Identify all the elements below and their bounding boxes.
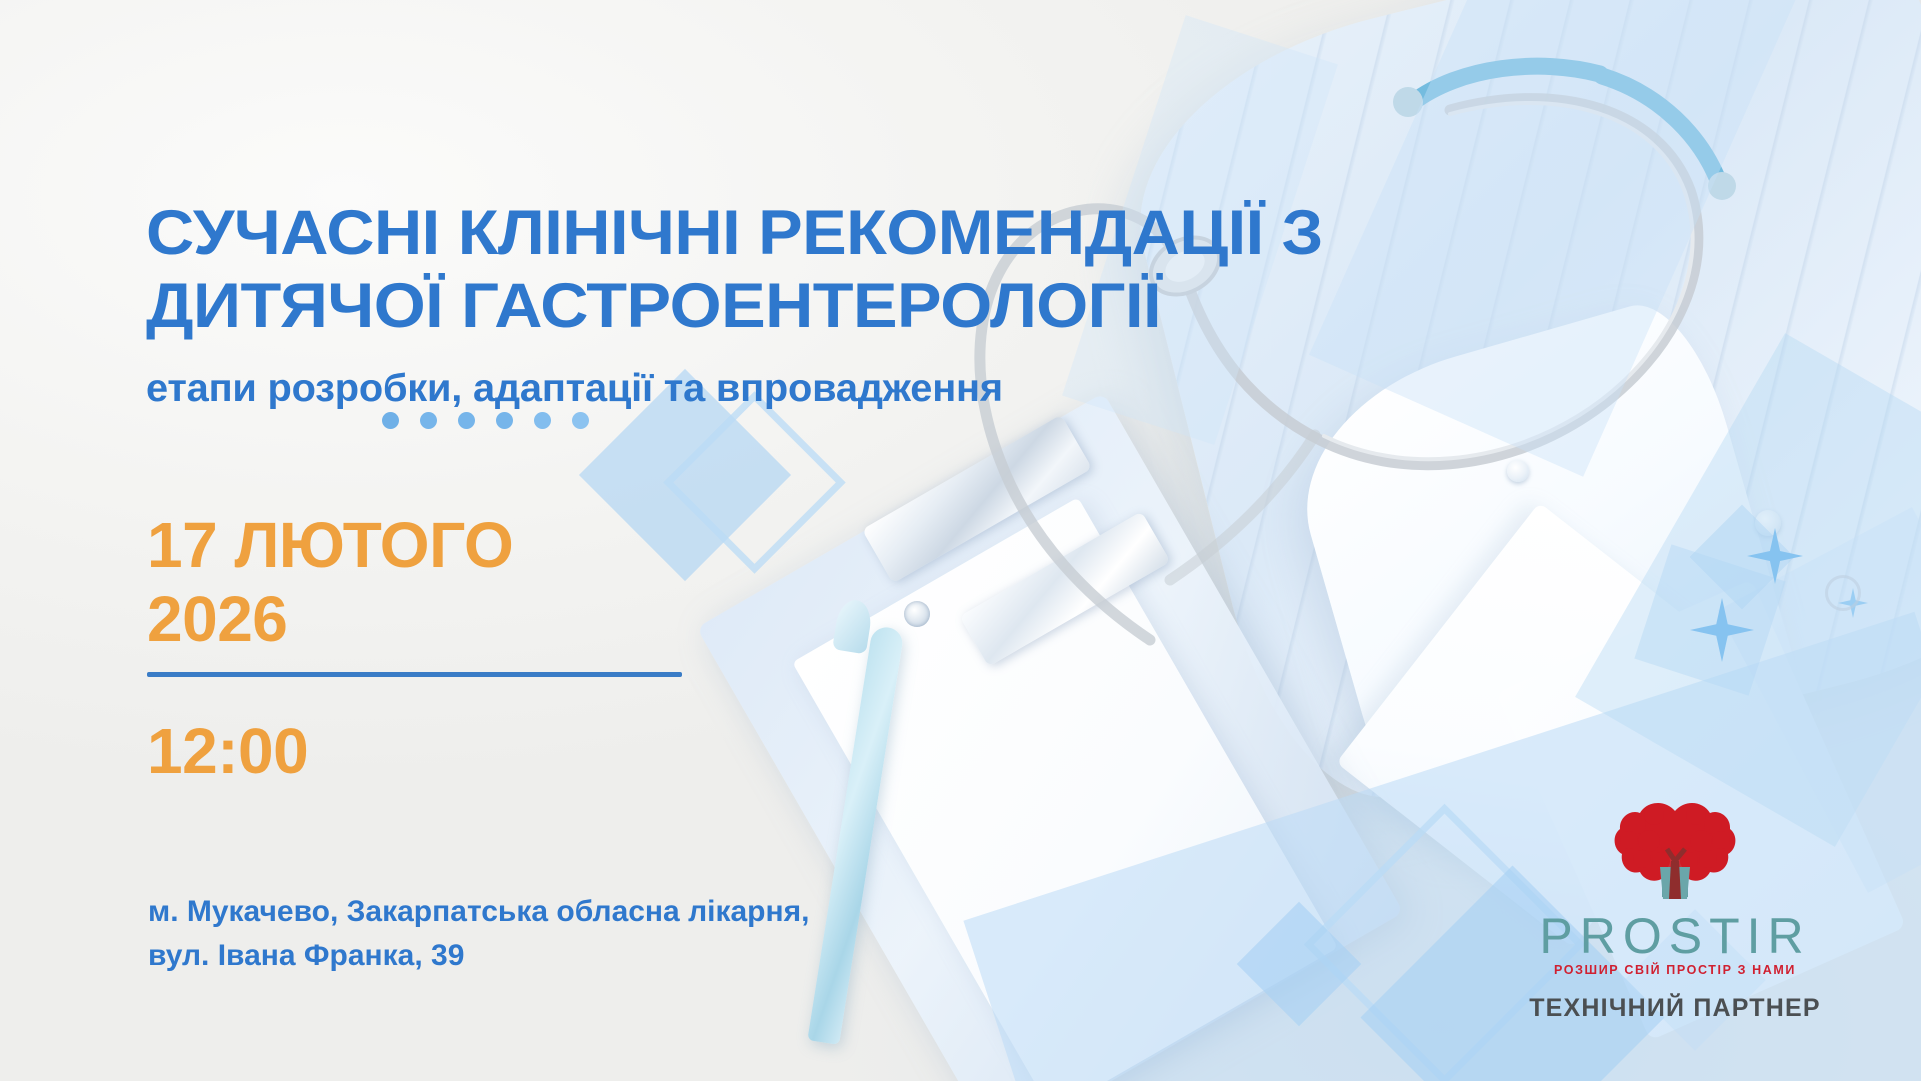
event-poster: СУЧАСНІ КЛІНІЧНІ РЕКОМЕНДАЦІЇ З ДИТЯЧОЇ …	[0, 0, 1921, 1081]
logo-wordmark: PROSTIR	[1525, 911, 1825, 961]
partner-label: ТЕХНІЧНИЙ ПАРТНЕР	[1525, 994, 1825, 1023]
logo-tagline: РОЗШИР СВІЙ ПРОСТІР З НАМИ	[1525, 963, 1825, 977]
event-time: 12:00	[147, 714, 707, 788]
divider-rule	[147, 672, 682, 677]
dot	[382, 412, 399, 429]
dot	[458, 412, 475, 429]
event-address: м. Мукачево, Закарпатська обласна лікарн…	[148, 890, 809, 977]
event-date-year: 2026	[147, 582, 707, 656]
address-line-1: м. Мукачево, Закарпатська обласна лікарн…	[148, 890, 809, 934]
address-line-2: вул. Івана Франка, 39	[148, 934, 809, 978]
dot	[534, 412, 551, 429]
title-line-2: ДИТЯЧОЇ ГАСТРОЕНТЕРОЛОГІЇ	[146, 270, 1662, 342]
heart-tree-icon	[1609, 795, 1741, 915]
event-datetime-block: 17 ЛЮТОГО 2026 12:00	[147, 508, 707, 788]
dots-decoration	[382, 412, 589, 429]
dot	[496, 412, 513, 429]
event-date-day-month: 17 ЛЮТОГО	[147, 508, 707, 582]
partner-logo[interactable]: PROSTIR РОЗШИР СВІЙ ПРОСТІР З НАМИ ТЕХНІ…	[1525, 795, 1825, 1023]
page-title: СУЧАСНІ КЛІНІЧНІ РЕКОМЕНДАЦІЇ З ДИТЯЧОЇ …	[146, 197, 1576, 342]
page-subtitle: етапи розробки, адаптації та впровадженн…	[146, 367, 1003, 411]
dot	[420, 412, 437, 429]
dot	[572, 412, 589, 429]
title-line-1: СУЧАСНІ КЛІНІЧНІ РЕКОМЕНДАЦІЇ З	[146, 197, 1662, 269]
